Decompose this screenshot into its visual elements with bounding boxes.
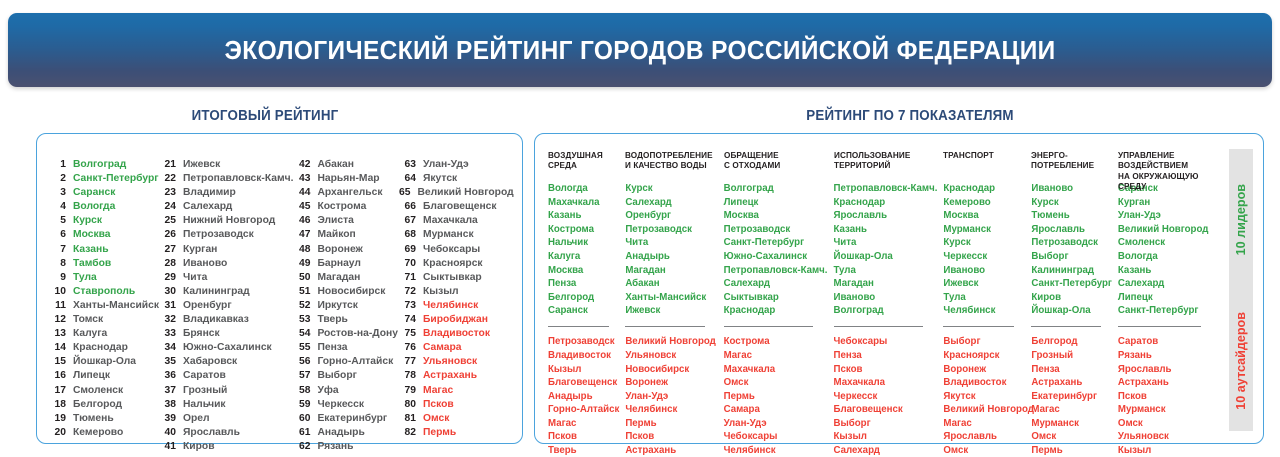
legend-cell-leaders: 10 лидеров	[1229, 149, 1253, 290]
rank-number: 29	[159, 271, 176, 285]
indicator-outsiders-list: БелгородГрозныйПензаАстраханьЕкатеринбур…	[1031, 335, 1112, 457]
table-row: 52Иркутск	[293, 299, 399, 313]
list-item: Тюмень	[1031, 209, 1112, 223]
rank-city-name: Нижний Новгород	[183, 214, 275, 228]
rank-city-name: Йошкар-Ола	[73, 355, 136, 369]
rank-city-name: Волгоград	[73, 158, 126, 172]
rank-city-name: Тула	[73, 271, 97, 285]
rank-city-name: Киров	[183, 440, 215, 454]
rank-city-name: Казань	[73, 243, 109, 257]
table-row: 8Тамбов	[49, 257, 159, 271]
list-item: Магас	[724, 349, 828, 363]
list-item: Псков	[1118, 390, 1214, 404]
rank-number: 12	[49, 313, 66, 327]
list-item: Краснодар	[724, 304, 828, 318]
list-item: Грозный	[1031, 349, 1112, 363]
list-item: Великий Новгород	[1118, 223, 1214, 237]
rank-number: 47	[293, 228, 310, 242]
list-item: Магас	[943, 417, 1025, 431]
list-item: Чита	[625, 236, 717, 250]
list-item: Абакан	[625, 277, 717, 291]
list-item: Челябинск	[943, 304, 1025, 318]
legend-cell-outsiders: 10 аутсайдеров	[1229, 290, 1253, 431]
table-row: 49Барнаул	[293, 257, 399, 271]
indicator-column: ТРАНСПОРТКраснодарКемеровоМоскваМурманск…	[943, 150, 1031, 457]
list-item: Кызыл	[548, 363, 619, 377]
rank-city-name: Астрахань	[423, 369, 477, 383]
indicator-column: ОБРАЩЕНИЕ С ОТХОДАМИВолгоградЛипецкМоскв…	[724, 150, 834, 457]
table-row: 81Омск	[399, 412, 509, 426]
rank-city-name: Иркутск	[317, 299, 357, 313]
overall-ranking-column: 63Улан-Удэ64Якутск65Великий Новгород66Бл…	[399, 158, 509, 454]
indicator-column-header: ВОДОПОТРЕБЛЕНИЕ И КАЧЕСТВО ВОДЫ	[625, 150, 713, 174]
list-item: Великий Новгород	[943, 403, 1025, 417]
list-item: Пермь	[625, 417, 717, 431]
table-row: 62Рязань	[293, 440, 399, 454]
rank-city-name: Иваново	[183, 257, 227, 271]
indicator-leaders-list: КраснодарКемеровоМоскваМурманскКурскЧерк…	[943, 182, 1025, 318]
rank-city-name: Пермь	[423, 426, 456, 440]
rank-number: 14	[49, 341, 66, 355]
table-row: 21Ижевск	[159, 158, 293, 172]
rank-number: 11	[49, 299, 66, 313]
list-item: Иваново	[834, 291, 938, 305]
list-item: Пенза	[1031, 363, 1112, 377]
rank-number: 61	[293, 426, 310, 440]
rank-city-name: Брянск	[183, 327, 220, 341]
list-item: Новосибирск	[625, 363, 717, 377]
table-row: 68Мурманск	[399, 228, 509, 242]
table-row: 4Вологда	[49, 200, 159, 214]
list-item: Вологда	[548, 182, 619, 196]
indicator-outsiders-list: СаратовРязаньЯрославльАстраханьПсковМурм…	[1118, 335, 1214, 457]
list-item: Москва	[943, 209, 1025, 223]
rank-city-name: Магадан	[317, 271, 360, 285]
list-item: Улан-Удэ	[724, 417, 828, 431]
rank-city-name: Выборг	[317, 369, 356, 383]
rank-number: 70	[399, 257, 416, 271]
table-row: 76Самара	[399, 341, 509, 355]
indicator-leaders-list: КурскСалехардОренбургПетрозаводскЧитаАна…	[625, 182, 717, 318]
list-item: Петропавловск-Камч.	[724, 264, 828, 278]
list-item: Ульяновск	[625, 349, 717, 363]
table-row: 64Якутск	[399, 172, 509, 186]
rank-number: 25	[159, 214, 176, 228]
list-item: Екатеринбург	[1031, 390, 1112, 404]
rank-number: 31	[159, 299, 176, 313]
rank-number: 34	[159, 341, 176, 355]
list-item: Якутск	[943, 390, 1025, 404]
indicator-column-header: УПРАВЛЕНИЕ ВОЗДЕЙСТВИЕМ НА ОКРУЖАЮЩУЮ СР…	[1118, 150, 1209, 174]
list-item: Омск	[1031, 430, 1112, 444]
list-item: Астрахань	[625, 444, 717, 457]
table-row: 2Санкт-Петербург	[49, 172, 159, 186]
rank-number: 69	[399, 243, 416, 257]
list-item: Вологда	[1118, 250, 1214, 264]
table-row: 79Магас	[399, 384, 509, 398]
rank-number: 82	[399, 426, 416, 440]
rank-city-name: Биробиджан	[423, 313, 488, 327]
indicator-leaders-list: ВолгоградЛипецкМоскваПетрозаводскСанкт-П…	[724, 182, 828, 318]
rank-number: 73	[399, 299, 416, 313]
list-item: Черкесск	[943, 250, 1025, 264]
list-item: Краснодар	[834, 196, 938, 210]
infographic-page: ЭКОЛОГИЧЕСКИЙ РЕЙТИНГ ГОРОДОВ РОССИЙСКОЙ…	[0, 0, 1280, 457]
rank-city-name: Кострома	[317, 200, 366, 214]
list-item: Анадырь	[625, 250, 717, 264]
list-item: Омск	[1118, 417, 1214, 431]
table-row: 12Томск	[49, 313, 159, 327]
list-item: Кызыл	[1118, 444, 1214, 457]
list-item: Владивосток	[943, 376, 1025, 390]
indicator-leaders-list: ИвановоКурскТюменьЯрославльПетрозаводскВ…	[1031, 182, 1112, 318]
rank-number: 60	[293, 412, 310, 426]
list-item: Салехард	[724, 277, 828, 291]
table-row: 26Петрозаводск	[159, 228, 293, 242]
rank-number: 6	[49, 228, 66, 242]
rank-city-name: Благовещенск	[423, 200, 497, 214]
rank-number: 78	[399, 369, 416, 383]
rank-number: 81	[399, 412, 416, 426]
rank-city-name: Саранск	[73, 186, 115, 200]
table-row: 23Владимир	[159, 186, 293, 200]
rank-city-name: Горно-Алтайск	[317, 355, 393, 369]
table-row: 29Чита	[159, 271, 293, 285]
rank-city-name: Воронеж	[317, 243, 362, 257]
overall-ranking-column: 21Ижевск22Петропавловск-Камч.23Владимир2…	[159, 158, 293, 454]
rank-number: 39	[159, 412, 176, 426]
table-row: 40Ярославль	[159, 426, 293, 440]
table-row: 15Йошкар-Ола	[49, 355, 159, 369]
table-row: 7Казань	[49, 243, 159, 257]
list-item: Петрозаводск	[548, 335, 619, 349]
table-row: 73Челябинск	[399, 299, 509, 313]
rank-city-name: Владикавказ	[183, 313, 249, 327]
indicator-column: ВОЗДУШНАЯ СРЕДАВологдаМахачкалаКазаньКос…	[548, 150, 625, 457]
rank-city-name: Уфа	[317, 384, 338, 398]
rank-number: 75	[399, 327, 416, 341]
table-row: 11Ханты-Мансийск	[49, 299, 159, 313]
rank-city-name: Улан-Удэ	[423, 158, 469, 172]
list-item: Ярославль	[943, 430, 1025, 444]
legend-label-outsiders: 10 аутсайдеров	[1234, 312, 1248, 410]
rank-number: 35	[159, 355, 176, 369]
list-item: Калуга	[548, 250, 619, 264]
table-row: 16Липецк	[49, 369, 159, 383]
rank-city-name: Владивосток	[423, 327, 490, 341]
table-row: 30Калининград	[159, 285, 293, 299]
list-item: Ханты-Мансийск	[625, 291, 717, 305]
rank-city-name: Липецк	[73, 369, 110, 383]
rank-number: 13	[49, 327, 66, 341]
list-item: Чебоксары	[834, 335, 938, 349]
table-row: 60Екатеринбург	[293, 412, 399, 426]
list-item: Курган	[1118, 196, 1214, 210]
section-divider	[548, 326, 609, 327]
rank-city-name: Мурманск	[423, 228, 474, 242]
table-row: 77Ульяновск	[399, 355, 509, 369]
rank-number: 48	[293, 243, 310, 257]
rank-number: 74	[399, 313, 416, 327]
rank-number: 24	[159, 200, 176, 214]
table-row: 22Петропавловск-Камч.	[159, 172, 293, 186]
section-caption-overall: ИТОГОВЫЙ РЕЙТИНГ	[21, 108, 509, 124]
rank-number: 55	[293, 341, 310, 355]
rank-number: 71	[399, 271, 416, 285]
table-row: 20Кемерово	[49, 426, 159, 440]
list-item: Санкт-Петербург	[1031, 277, 1112, 291]
rank-number: 77	[399, 355, 416, 369]
list-item: Калининград	[1031, 264, 1112, 278]
rank-city-name: Калуга	[73, 327, 107, 341]
table-row: 6Москва	[49, 228, 159, 242]
list-item: Мурманск	[1118, 403, 1214, 417]
rank-number: 46	[293, 214, 310, 228]
legend-strip: 10 лидеров 10 аутсайдеров	[1229, 149, 1253, 431]
indicator-column: ЭНЕРГО- ПОТРЕБЛЕНИЕИвановоКурскТюменьЯро…	[1031, 150, 1118, 457]
rank-city-name: Петрозаводск	[183, 228, 254, 242]
list-item: Оренбург	[625, 209, 717, 223]
indicator-leaders-list: Петропавловск-Камч.КраснодарЯрославльКаз…	[834, 182, 938, 318]
indicator-leaders-list: СаранскКурганУлан-УдэВеликий НовгородСмо…	[1118, 182, 1214, 318]
rank-number: 18	[49, 398, 66, 412]
table-row: 70Красноярск	[399, 257, 509, 271]
list-item: Петрозаводск	[724, 223, 828, 237]
list-item: Казань	[548, 209, 619, 223]
table-row: 50Магадан	[293, 271, 399, 285]
list-item: Омск	[724, 376, 828, 390]
table-row: 35Хабаровск	[159, 355, 293, 369]
rank-number: 7	[49, 243, 66, 257]
table-row: 39Орел	[159, 412, 293, 426]
list-item: Самара	[724, 403, 828, 417]
list-item: Псков	[548, 430, 619, 444]
rank-city-name: Южно-Сахалинск	[183, 341, 272, 355]
table-row: 10Ставрополь	[49, 285, 159, 299]
list-item: Ижевск	[625, 304, 717, 318]
rank-city-name: Курган	[183, 243, 217, 257]
list-item: Выборг	[834, 417, 938, 431]
list-item: Пермь	[724, 390, 828, 404]
list-item: Магадан	[625, 264, 717, 278]
rank-number: 32	[159, 313, 176, 327]
rank-city-name: Ростов-на-Дону	[317, 327, 398, 341]
list-item: Кострома	[548, 223, 619, 237]
indicator-outsiders-list: ЧебоксарыПензаПсковМахачкалаЧеркесскБлаг…	[834, 335, 938, 457]
list-item: Мурманск	[1031, 417, 1112, 431]
list-item: Йошкар-Ола	[1031, 304, 1112, 318]
list-item: Горно-Алтайск	[548, 403, 619, 417]
table-row: 19Тюмень	[49, 412, 159, 426]
rank-city-name: Ульяновск	[423, 355, 477, 369]
list-item: Магадан	[834, 277, 938, 291]
list-item: Смоленск	[1118, 236, 1214, 250]
list-item: Курск	[625, 182, 717, 196]
list-item: Кемерово	[943, 196, 1025, 210]
list-item: Иваново	[943, 264, 1025, 278]
table-row: 17Смоленск	[49, 384, 159, 398]
indicator-outsiders-list: ВыборгКрасноярскВоронежВладивостокЯкутск…	[943, 335, 1025, 457]
section-divider	[625, 326, 704, 327]
rank-city-name: Калининград	[183, 285, 250, 299]
rank-number: 51	[293, 285, 310, 299]
rank-city-name: Анадырь	[317, 426, 364, 440]
rank-city-name: Псков	[423, 398, 454, 412]
rank-city-name: Белгород	[73, 398, 122, 412]
rank-number: 64	[399, 172, 416, 186]
list-item: Челябинск	[625, 403, 717, 417]
list-item: Выборг	[943, 335, 1025, 349]
list-item: Улан-Удэ	[625, 390, 717, 404]
list-item: Краснодар	[943, 182, 1025, 196]
table-row: 41Киров	[159, 440, 293, 454]
rank-city-name: Петропавловск-Камч.	[183, 172, 293, 186]
overall-ranking-column: 1Волгоград2Санкт-Петербург3Саранск4Волог…	[49, 158, 159, 454]
rank-city-name: Новосибирск	[317, 285, 385, 299]
rank-number: 1	[49, 158, 66, 172]
rank-city-name: Махачкала	[423, 214, 478, 228]
rank-city-name: Тамбов	[73, 257, 111, 271]
overall-ranking-column: 42Абакан43Нарьян-Мар44Архангельск45Костр…	[293, 158, 399, 454]
rank-city-name: Майкоп	[317, 228, 355, 242]
table-row: 56Горно-Алтайск	[293, 355, 399, 369]
rank-city-name: Якутск	[423, 172, 457, 186]
list-item: Махачкала	[548, 196, 619, 210]
indicator-outsiders-list: КостромаМагасМахачкалаОмскПермьСамараУла…	[724, 335, 828, 457]
indicator-column-header: ВОЗДУШНАЯ СРЕДА	[548, 150, 616, 174]
table-row: 65Великий Новгород	[399, 186, 509, 200]
rank-number: 4	[49, 200, 66, 214]
rank-number: 44	[293, 186, 310, 200]
table-row: 37Грозный	[159, 384, 293, 398]
list-item: Петропавловск-Камч.	[834, 182, 938, 196]
list-item: Киров	[1031, 291, 1112, 305]
table-row: 3Саранск	[49, 186, 159, 200]
rank-city-name: Краснодар	[73, 341, 128, 355]
rank-number: 9	[49, 271, 66, 285]
rank-number: 30	[159, 285, 176, 299]
rank-number: 21	[159, 158, 176, 172]
rank-number: 15	[49, 355, 66, 369]
list-item: Кострома	[724, 335, 828, 349]
table-row: 25Нижний Новгород	[159, 214, 293, 228]
list-item: Курск	[943, 236, 1025, 250]
table-row: 9Тула	[49, 271, 159, 285]
indicator-column-header: ИСПОЛЬЗОВАНИЕ ТЕРРИТОРИЙ	[834, 150, 933, 174]
indicator-column: ВОДОПОТРЕБЛЕНИЕ И КАЧЕСТВО ВОДЫКурскСале…	[625, 150, 723, 457]
rank-city-name: Великий Новгород	[417, 186, 513, 200]
rank-number: 38	[159, 398, 176, 412]
overall-ranking-columns: 1Волгоград2Санкт-Петербург3Саранск4Волог…	[49, 158, 509, 454]
rank-number: 65	[399, 186, 410, 200]
indicator-column: ИСПОЛЬЗОВАНИЕ ТЕРРИТОРИЙПетропавловск-Ка…	[834, 150, 944, 457]
rank-city-name: Владимир	[183, 186, 236, 200]
rank-city-name: Барнаул	[317, 257, 361, 271]
rank-number: 57	[293, 369, 310, 383]
section-divider	[834, 326, 923, 327]
table-row: 75Владивосток	[399, 327, 509, 341]
table-row: 32Владикавказ	[159, 313, 293, 327]
rank-city-name: Кызыл	[423, 285, 459, 299]
table-row: 18Белгород	[49, 398, 159, 412]
table-row: 61Анадырь	[293, 426, 399, 440]
list-item: Омск	[943, 444, 1025, 457]
section-divider	[724, 326, 813, 327]
table-row: 78Астрахань	[399, 369, 509, 383]
list-item: Магас	[1031, 403, 1112, 417]
rank-city-name: Екатеринбург	[317, 412, 387, 426]
table-row: 80Псков	[399, 398, 509, 412]
list-item: Йошкар-Ола	[834, 250, 938, 264]
rank-city-name: Пенза	[317, 341, 347, 355]
indicator-leaders-list: ВологдаМахачкалаКазаньКостромаНальчикКал…	[548, 182, 619, 318]
rank-city-name: Кемерово	[73, 426, 123, 440]
rank-city-name: Орел	[183, 412, 210, 426]
table-row: 36Саратов	[159, 369, 293, 383]
rank-number: 49	[293, 257, 310, 271]
table-row: 74Биробиджан	[399, 313, 509, 327]
list-item: Махачкала	[724, 363, 828, 377]
rank-number: 17	[49, 384, 66, 398]
table-row: 63Улан-Удэ	[399, 158, 509, 172]
table-row: 42Абакан	[293, 158, 399, 172]
rank-city-name: Вологда	[73, 200, 115, 214]
list-item: Волгоград	[834, 304, 938, 318]
section-caption-indicators: РЕЙТИНГ ПО 7 ПОКАЗАТЕЛЯМ	[570, 108, 1251, 124]
list-item: Белгород	[1031, 335, 1112, 349]
list-item: Воронеж	[625, 376, 717, 390]
rank-number: 3	[49, 186, 66, 200]
rank-city-name: Рязань	[317, 440, 353, 454]
list-item: Липецк	[724, 196, 828, 210]
rank-city-name: Хабаровск	[183, 355, 237, 369]
rank-city-name: Челябинск	[423, 299, 478, 313]
list-item: Курск	[1031, 196, 1112, 210]
rank-city-name: Ярославль	[183, 426, 240, 440]
rank-city-name: Саратов	[183, 369, 226, 383]
list-item: Салехард	[625, 196, 717, 210]
table-row: 27Курган	[159, 243, 293, 257]
rank-city-name: Курск	[73, 214, 102, 228]
rank-city-name: Элиста	[317, 214, 353, 228]
table-row: 67Махачкала	[399, 214, 509, 228]
rank-city-name: Ставрополь	[73, 285, 135, 299]
list-item: Москва	[724, 209, 828, 223]
rank-number: 16	[49, 369, 66, 383]
list-item: Магас	[548, 417, 619, 431]
rank-number: 76	[399, 341, 416, 355]
table-row: 44Архангельск	[293, 186, 399, 200]
list-item: Пенза	[548, 277, 619, 291]
rank-number: 68	[399, 228, 416, 242]
list-item: Волгоград	[724, 182, 828, 196]
table-row: 82Пермь	[399, 426, 509, 440]
list-item: Благовещенск	[834, 403, 938, 417]
rank-number: 45	[293, 200, 310, 214]
list-item: Воронеж	[943, 363, 1025, 377]
list-item: Салехард	[1118, 277, 1214, 291]
list-item: Иваново	[1031, 182, 1112, 196]
rank-number: 36	[159, 369, 176, 383]
list-item: Ярославль	[1118, 363, 1214, 377]
list-item: Благовещенск	[548, 376, 619, 390]
rank-number: 50	[293, 271, 310, 285]
indicators-panel: ВОЗДУШНАЯ СРЕДАВологдаМахачкалаКазаньКос…	[534, 133, 1264, 444]
indicator-columns: ВОЗДУШНАЯ СРЕДАВологдаМахачкалаКазаньКос…	[548, 150, 1220, 457]
list-item: Саратов	[1118, 335, 1214, 349]
list-item: Казань	[834, 223, 938, 237]
table-row: 24Салехард	[159, 200, 293, 214]
